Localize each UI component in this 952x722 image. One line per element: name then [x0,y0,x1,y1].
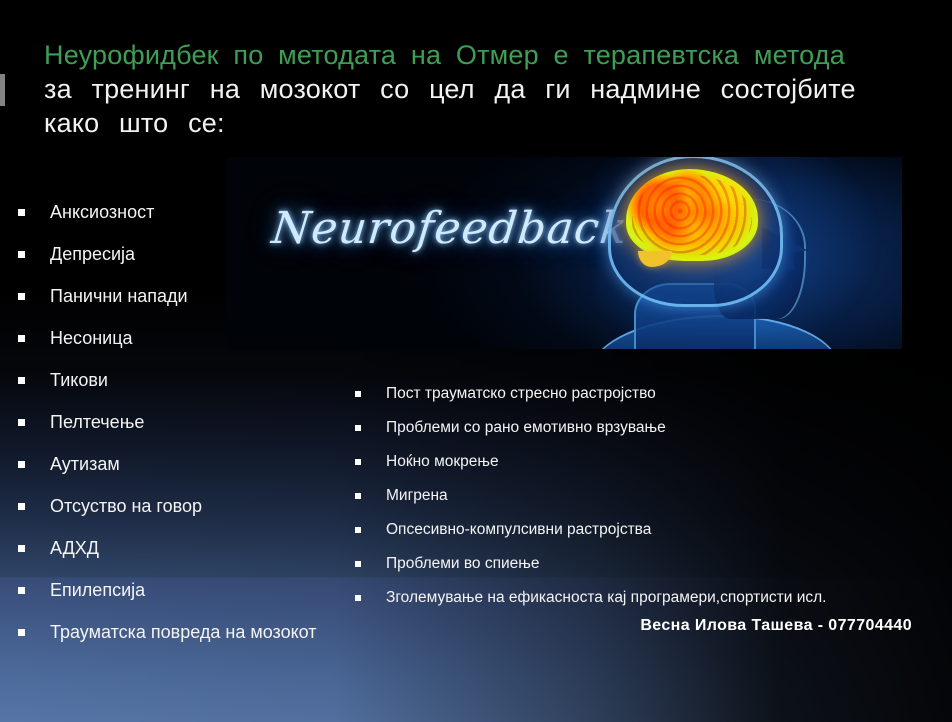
list-item: Проблеми со рано емотивно врзување [355,418,925,438]
list-item-label: Пелтечење [50,410,318,434]
list-item-label: Мигрена [386,486,925,506]
list-item-label: Епилепсија [50,578,318,602]
list-item: Панични напади [18,284,318,308]
list-item: Депресија [18,242,318,266]
square-bullet-icon [355,595,361,601]
list-item-label: Аутизам [50,452,318,476]
square-bullet-icon [18,461,25,468]
conditions-list-right: Пост трауматско стресно растројство Проб… [355,384,925,622]
neurofeedback-wordmark: Neurofeedback [269,203,630,254]
list-item: Анксиозност [18,200,318,224]
list-item-label: АДХД [50,536,318,560]
list-item: Тикови [18,368,318,392]
brain-icon [626,169,758,261]
square-bullet-icon [355,527,361,533]
list-item: Отсуство на говор [18,494,318,518]
list-item-label: Панични напади [50,284,318,308]
square-bullet-icon [18,419,25,426]
presentation-slide: Неурофидбек по методата на Отмер е терап… [0,0,952,722]
square-bullet-icon [18,251,25,258]
slide-heading: Неурофидбек по методата на Отмер е терап… [44,38,870,140]
neurofeedback-banner-image: Neurofeedback [226,157,902,349]
list-item-label: Тикови [50,368,318,392]
list-item: Епилепсија [18,578,318,602]
list-item: Несоница [18,326,318,350]
square-bullet-icon [355,459,361,465]
conditions-list-left: Анксиозност Депресија Панични напади Нес… [18,200,318,662]
square-bullet-icon [18,209,25,216]
presenter-contact: Весна Илова Ташева - 077704440 [0,617,912,635]
list-item: Ноќно мокрење [355,452,925,472]
list-item: Мигрена [355,486,925,506]
square-bullet-icon [18,503,25,510]
list-item-label: Анксиозност [50,200,318,224]
left-edge-artifact [0,74,5,106]
list-item-label: Проблеми во спиење [386,554,925,574]
list-item: Аутизам [18,452,318,476]
list-item: Пост трауматско стресно растројство [355,384,925,404]
square-bullet-icon [18,377,25,384]
head-profile-illustration [586,157,886,349]
square-bullet-icon [355,391,361,397]
list-item-label: Пост трауматско стресно растројство [386,384,925,404]
square-bullet-icon [18,545,25,552]
square-bullet-icon [18,293,25,300]
heading-line-2: за тренинг на мозокот со цел да ги надми… [44,72,870,106]
list-item-label: Зголемување на ефикасноста кај програмер… [386,588,925,608]
list-item-label: Несоница [50,326,318,350]
square-bullet-icon [355,425,361,431]
list-item-label: Отсуство на говор [50,494,318,518]
list-item: АДХД [18,536,318,560]
square-bullet-icon [18,587,25,594]
list-item-label: Ноќно мокрење [386,452,925,472]
heading-line-1: Неурофидбек по методата на Отмер е терап… [44,38,870,72]
square-bullet-icon [18,335,25,342]
list-item-label: Опсесивно-компулсивни растројства [386,520,925,540]
square-bullet-icon [355,493,361,499]
heading-line-3: како што се: [44,106,870,140]
slide-top-strip [0,0,952,26]
list-item: Пелтечење [18,410,318,434]
list-item-label: Проблеми со рано емотивно врзување [386,418,925,438]
square-bullet-icon [355,561,361,567]
list-item: Проблеми во спиење [355,554,925,574]
list-item: Опсесивно-компулсивни растројства [355,520,925,540]
list-item: Зголемување на ефикасноста кај програмер… [355,588,925,608]
list-item-label: Депресија [50,242,318,266]
